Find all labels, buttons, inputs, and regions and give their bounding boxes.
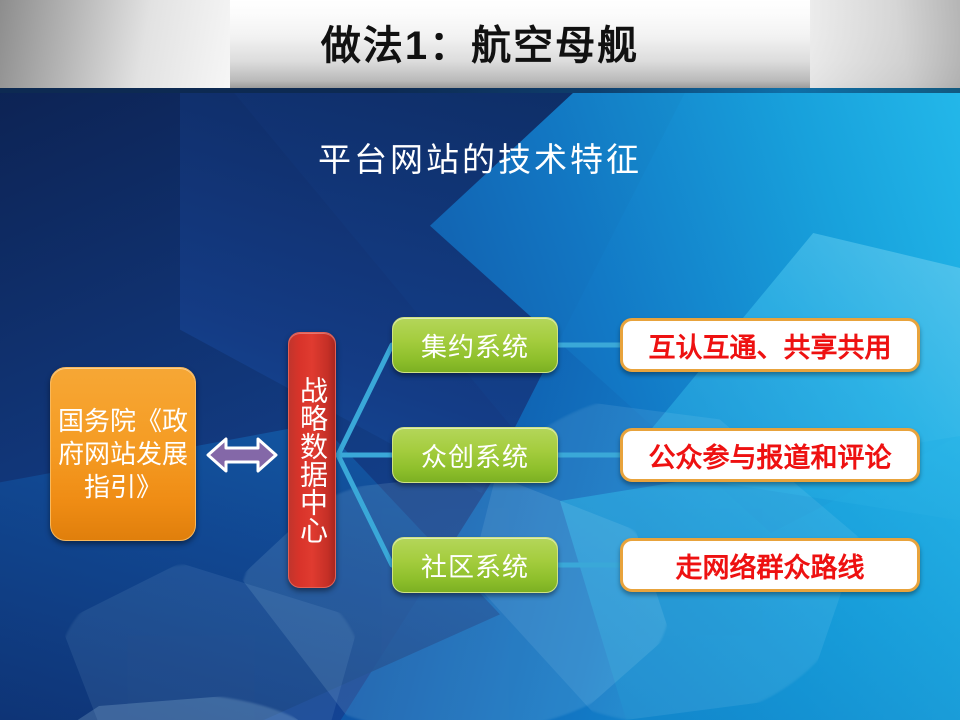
- slide: 做法1：航空母舰 平台网站的技术特征 国务院《政府网: [0, 0, 960, 720]
- feature-box-3-label: 走网络群众路线: [676, 546, 865, 585]
- center-box-label: 战略数据中心: [292, 376, 332, 544]
- feature-box-1-label: 互认互通、共享共用: [649, 326, 892, 365]
- source-box-label: 国务院《政府网站发展指引》: [55, 405, 191, 504]
- subtitle: 平台网站的技术特征: [0, 133, 960, 181]
- source-box[interactable]: 国务院《政府网站发展指引》: [50, 367, 196, 541]
- feature-box-1[interactable]: 互认互通、共享共用: [620, 318, 920, 372]
- feature-box-3[interactable]: 走网络群众路线: [620, 538, 920, 592]
- system-box-2[interactable]: 众创系统: [392, 427, 558, 483]
- feature-box-2-label: 公众参与报道和评论: [649, 436, 892, 475]
- feature-box-2[interactable]: 公众参与报道和评论: [620, 428, 920, 482]
- system-box-3-label: 社区系统: [421, 547, 529, 584]
- system-box-2-label: 众创系统: [421, 437, 529, 474]
- system-box-1-label: 集约系统: [421, 327, 529, 364]
- center-box[interactable]: 战略数据中心: [288, 332, 336, 588]
- system-box-3[interactable]: 社区系统: [392, 537, 558, 593]
- link-center-to-system-3: [338, 455, 392, 565]
- double-headed-arrow-icon: [206, 435, 278, 475]
- system-box-1[interactable]: 集约系统: [392, 317, 558, 373]
- link-center-to-system-1: [338, 345, 392, 455]
